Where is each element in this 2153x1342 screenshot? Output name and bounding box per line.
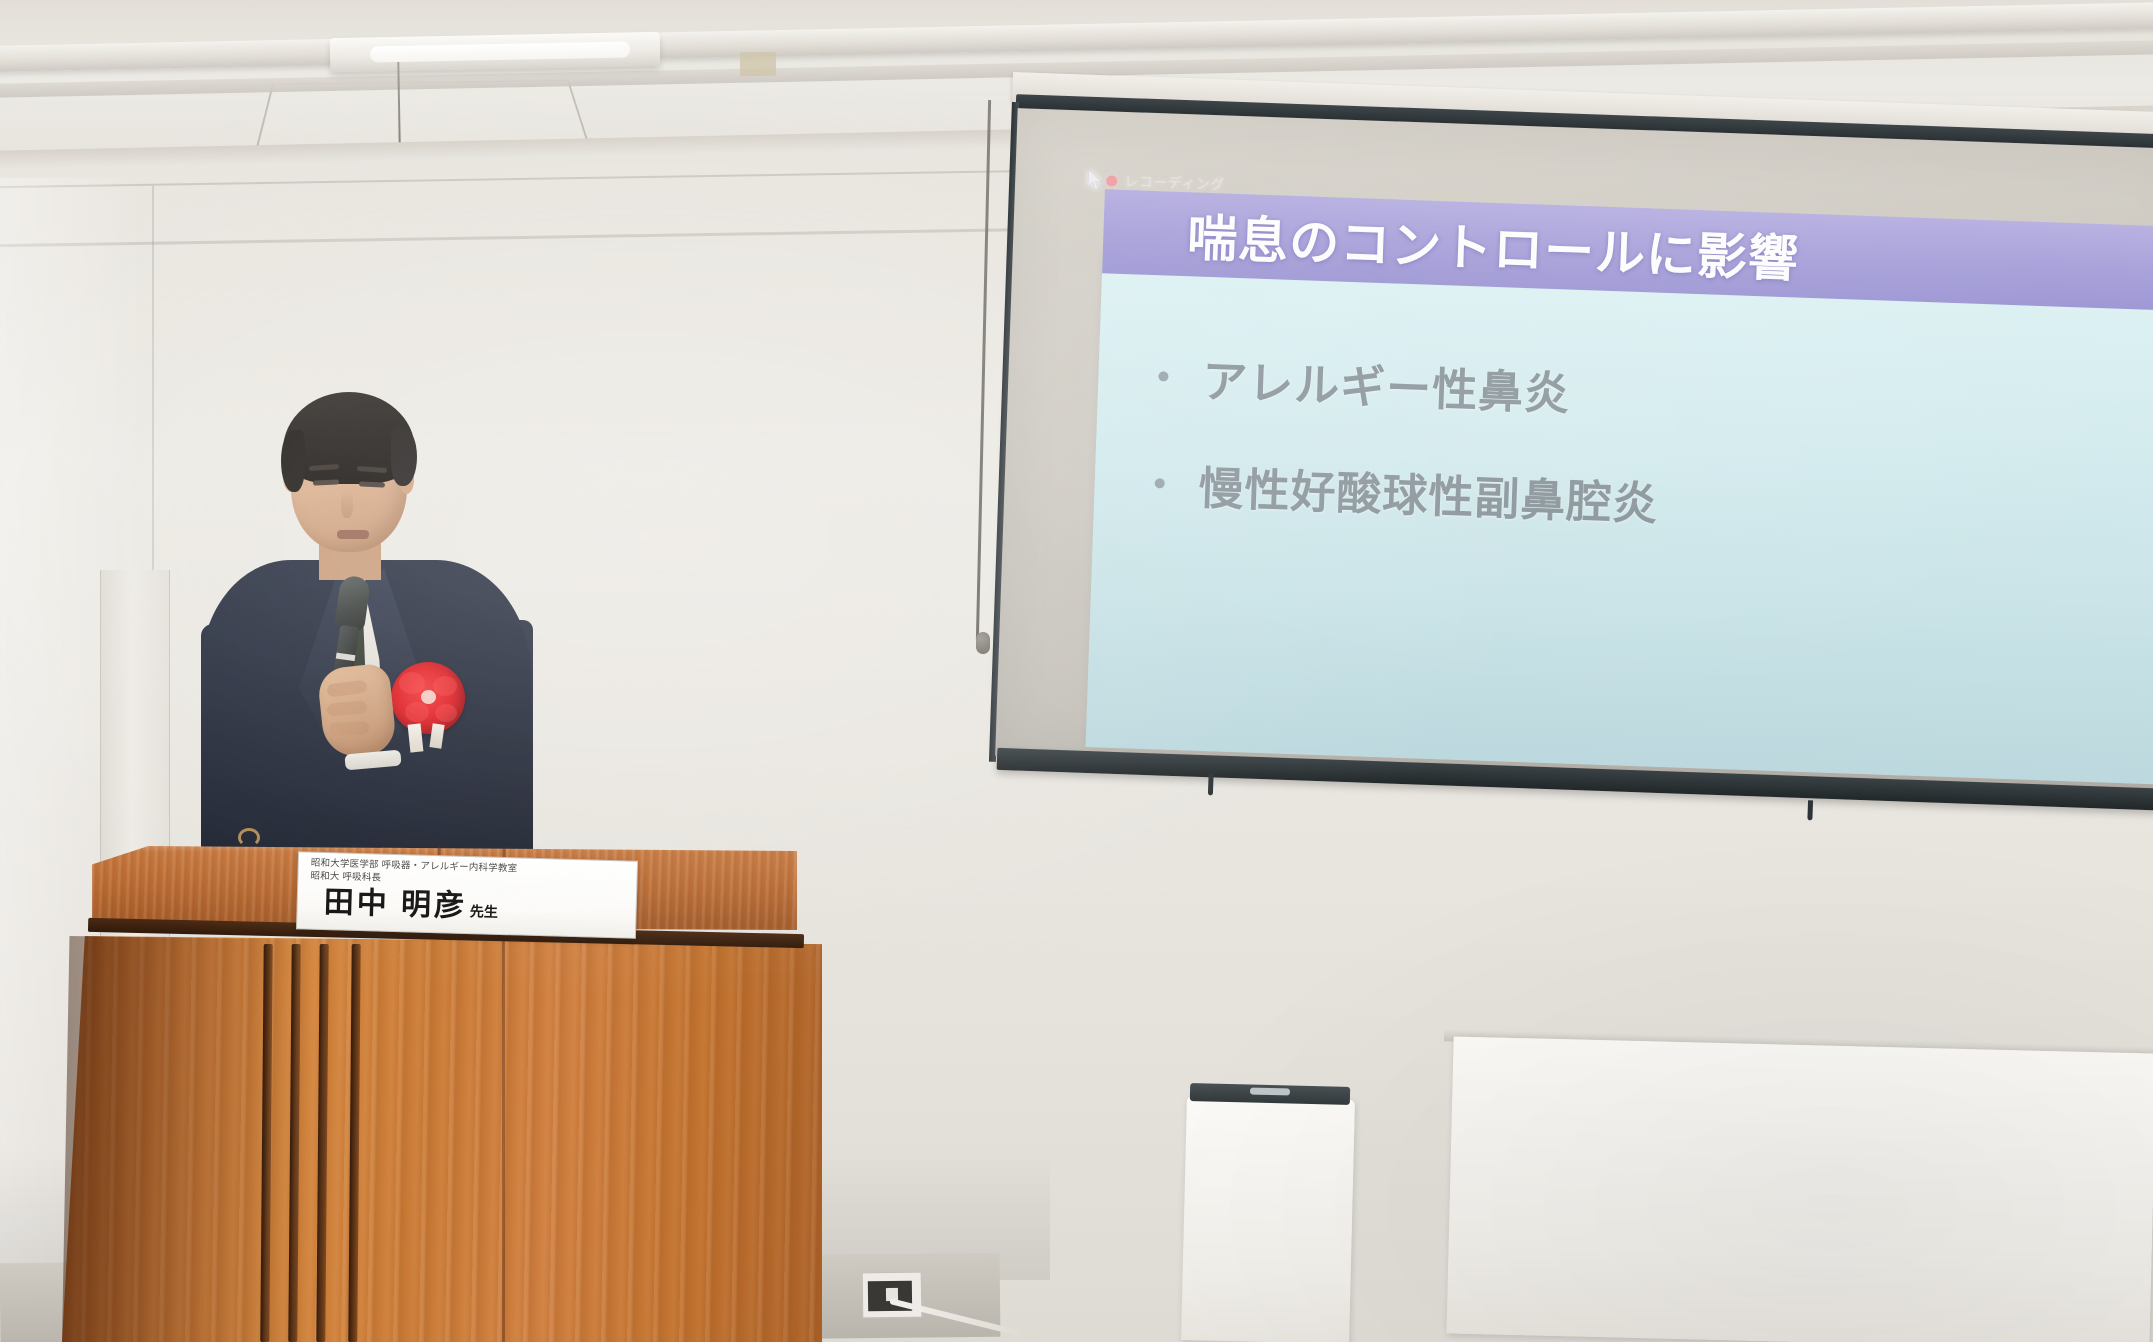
speaker-person [195, 370, 535, 890]
rosette-fold [435, 704, 457, 722]
mouse-pointer-icon [1087, 169, 1105, 192]
podium-ring-hook [238, 828, 260, 847]
record-dot-icon [1106, 175, 1117, 186]
speaker-finger [329, 721, 370, 736]
rosette-fold [405, 702, 429, 722]
rosette-ribbon [408, 723, 424, 752]
nameplate-honorific: 先生 [470, 901, 499, 922]
bullet-dot-icon [1158, 371, 1168, 381]
nameplate-name-row: 田中 明彦 先生 [323, 888, 628, 926]
ceiling-tag [740, 52, 776, 77]
whiteboard-clip-slot [1250, 1088, 1290, 1096]
speaker-nameplate: 昭和大学医学部 呼吸器・アレルギー内科学教室 昭和大 呼吸科長 田中 明彦 先生 [296, 851, 638, 938]
bullet-item: 慢性好酸球性副鼻腔炎 [1154, 450, 2153, 552]
podium-seam [502, 938, 505, 1342]
bullet-text: アレルギー性鼻炎 [1201, 345, 1571, 423]
slide-title: 喘息のコントロールに影響 [1186, 198, 1800, 291]
slide-content: レコーディング 喘息のコントロールに影響 アレルギー性鼻炎 慢性好酸球性副鼻腔炎 [995, 108, 2153, 797]
nameplate-name: 田中 明彦 [323, 888, 467, 922]
screen-hook [1807, 800, 1813, 820]
projection-screen: レコーディング 喘息のコントロールに影響 アレルギー性鼻炎 慢性好酸球性副鼻腔炎 [989, 72, 2153, 813]
bullet-dot-icon [1155, 478, 1165, 488]
whiteboard-panel-left [1181, 1096, 1355, 1342]
red-rosette-badge [391, 662, 465, 734]
screen-pull-knob[interactable] [976, 632, 990, 654]
whiteboard-panel-right [1446, 1036, 2153, 1342]
speaker-nose [341, 490, 353, 518]
speaker-mouth [337, 530, 369, 539]
rosette-fold [399, 672, 425, 694]
bullet-text: 慢性好酸球性副鼻腔炎 [1198, 452, 1660, 533]
rosette-center [421, 690, 436, 704]
speaker-hair-right [391, 428, 417, 486]
podium-side-panel [62, 936, 312, 1342]
speaker-hair-left [281, 430, 305, 492]
screen-hook [1208, 773, 1214, 795]
lecture-hall-photo: レコーディング 喘息のコントロールに影響 アレルギー性鼻炎 慢性好酸球性副鼻腔炎 [0, 0, 2153, 1342]
rosette-fold [433, 676, 457, 696]
slide-bullet-list: アレルギー性鼻炎 慢性好酸球性副鼻腔炎 [1152, 343, 2153, 594]
